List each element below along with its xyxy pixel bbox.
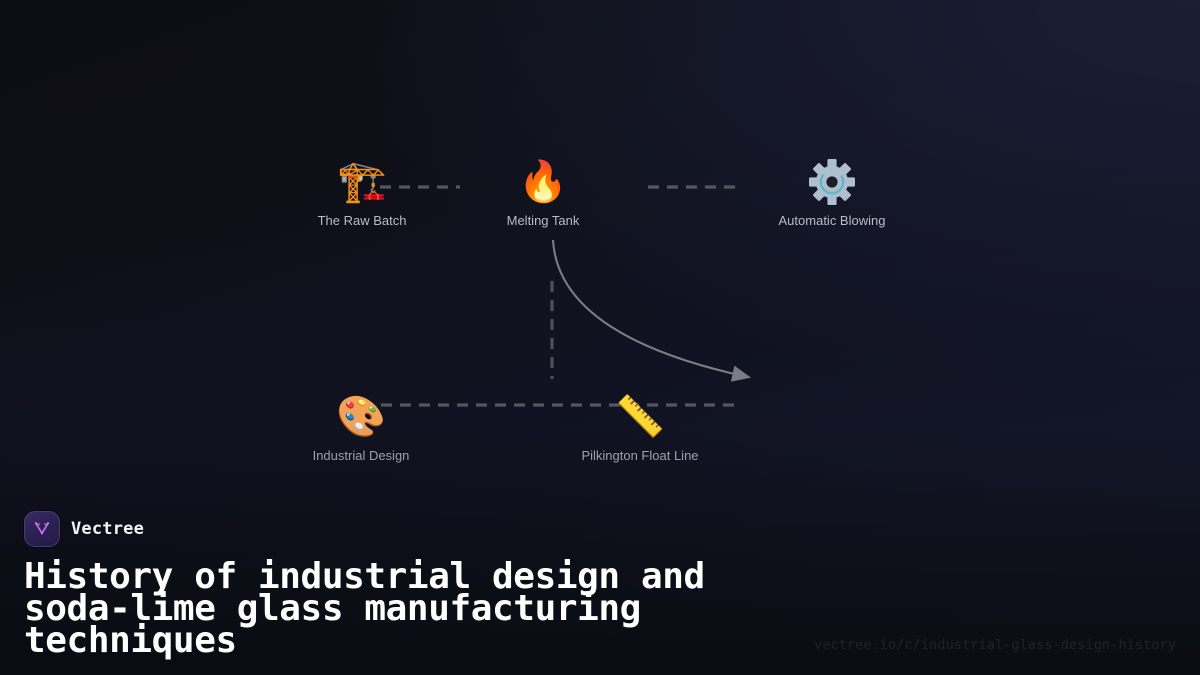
graph-node-melting-tank[interactable]: 🔥 Melting Tank — [448, 158, 638, 229]
page-title: History of industrial design and soda-li… — [24, 561, 784, 657]
graph-node-label: Melting Tank — [507, 213, 580, 229]
artist-palette-icon: 🎨 — [336, 393, 386, 441]
graph-node-label: Industrial Design — [313, 448, 410, 464]
graph-node-automatic-blowing[interactable]: Automatic Blowing — [737, 158, 927, 229]
fire-icon: 🔥 — [518, 158, 568, 206]
vectree-logo-icon — [24, 511, 60, 547]
graph-node-pilkington-float-line[interactable]: 📏 Pilkington Float Line — [545, 393, 735, 464]
straight-ruler-icon: 📏 — [615, 393, 665, 441]
graph-node-industrial-design[interactable]: 🎨 Industrial Design — [266, 393, 456, 464]
graph-node-raw-batch[interactable]: 🏗️ The Raw Batch — [267, 158, 457, 229]
screenshot-root: 🏗️ The Raw Batch 🔥 Melting Tank — [0, 0, 1200, 675]
construction-crane-icon: 🏗️ — [337, 158, 387, 206]
graph-node-label: The Raw Batch — [318, 213, 407, 229]
gear-icon — [808, 158, 856, 206]
brand-name: Vectree — [71, 519, 144, 539]
edge-melting-tank-curved-arrow — [553, 240, 748, 377]
footer: Vectree History of industrial design and… — [0, 511, 1200, 675]
graph-node-label: Pilkington Float Line — [581, 448, 698, 464]
brand: Vectree — [24, 511, 1176, 547]
graph-node-label: Automatic Blowing — [779, 213, 886, 229]
